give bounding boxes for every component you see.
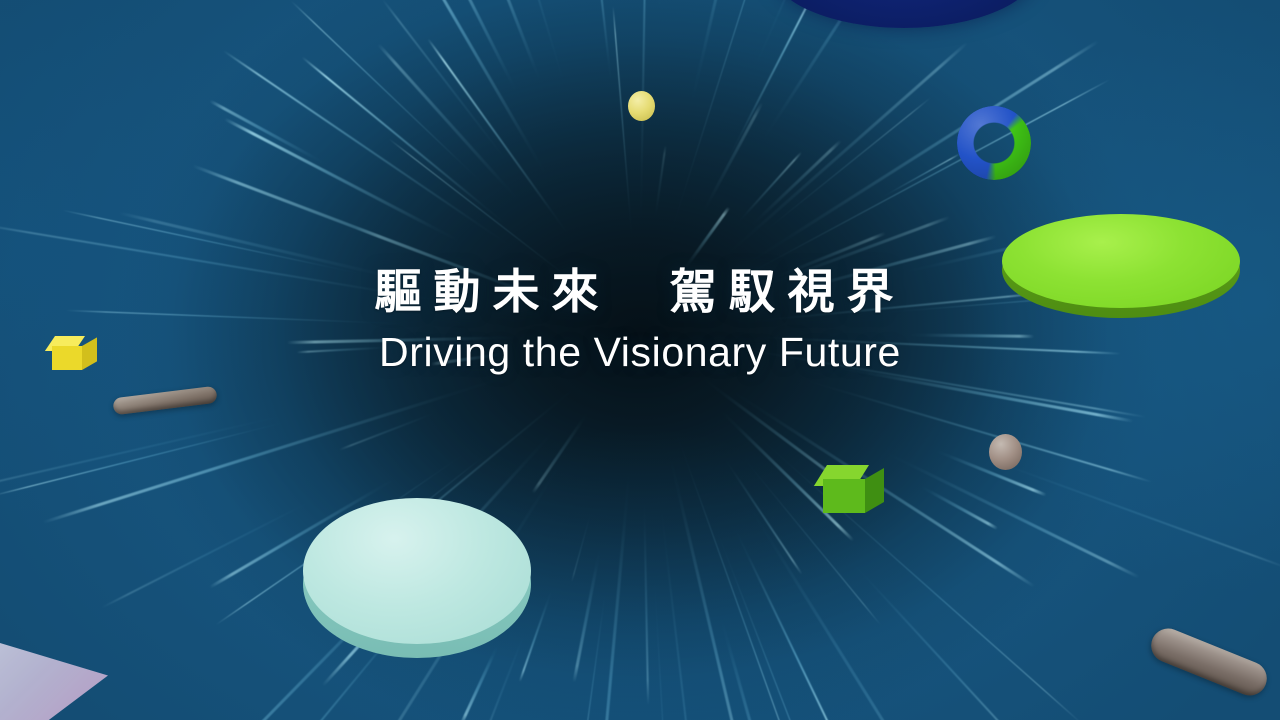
sphere-brown-shape — [989, 434, 1022, 470]
page-subtitle-english: Driving the Visionary Future — [0, 329, 1280, 376]
disc-mint-shape — [303, 498, 531, 644]
sphere-yellow-shape — [628, 91, 655, 121]
ring-donut-shape — [957, 106, 1031, 180]
cube-green-side-face — [865, 468, 884, 513]
cube-green-shape — [823, 465, 885, 525]
title-block: 驅動未來 駕馭視界 Driving the Visionary Future — [0, 264, 1280, 376]
page-title-chinese: 驅動未來 駕馭視界 — [0, 264, 1280, 319]
cube-green-front-face — [823, 479, 865, 513]
title-card-scene: 驅動未來 駕馭視界 Driving the Visionary Future — [0, 0, 1280, 720]
